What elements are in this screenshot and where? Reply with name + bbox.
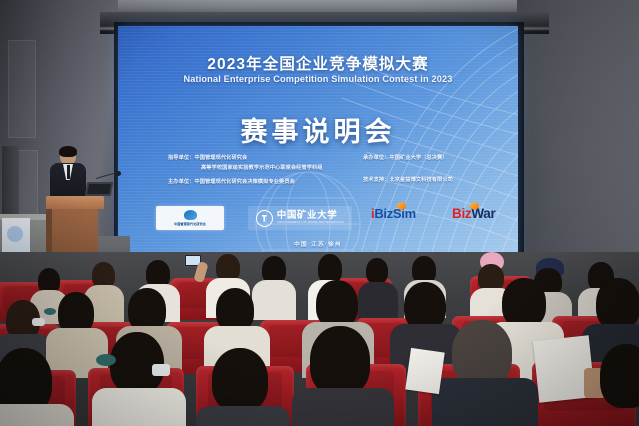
- ibizsim-logo: iBizSim: [371, 207, 416, 220]
- bizwar-part1: Biz: [452, 206, 471, 221]
- slide-title-cn: 2023年全国企业竞争模拟大赛: [118, 52, 518, 74]
- wall-right: [517, 0, 639, 272]
- cam-logo-mark-icon: [184, 210, 197, 220]
- credit-line: 主办单位：中国管理现代化研究会决策模拟专业委员会: [168, 178, 323, 188]
- cam-logo: 中国管理现代化研究会: [156, 206, 224, 230]
- audience-head: [502, 278, 546, 328]
- presenter-hair: [59, 146, 77, 157]
- audience-torso: [196, 406, 290, 426]
- audience-head: [212, 348, 268, 412]
- ibizsim-part2: Biz: [374, 206, 393, 221]
- audience-mask: [32, 318, 45, 326]
- slide-title-en: National Enterprise Competition Simulati…: [118, 74, 518, 84]
- credits-left: 指导单位：中国管理现代化研究会 高等学校国家级实验教学示范中心联席会经管学科组 …: [168, 154, 323, 188]
- conference-hall-photo: 2023年全国企业竞争模拟大赛 National Enterprise Comp…: [0, 0, 639, 426]
- cumt-logo-en: CHINA UNIVERSITY OF MINING AND TECHNOLOG…: [277, 222, 345, 225]
- cumt-logo: 中国矿业大学 CHINA UNIVERSITY OF MINING AND TE…: [248, 206, 352, 230]
- audience-head: [600, 344, 639, 408]
- audience-hair-tie: [96, 354, 116, 366]
- audience-torso: [252, 280, 296, 320]
- audience-head: [452, 320, 512, 386]
- wall-panel: [8, 40, 36, 138]
- slide-main-heading: 赛事说明会: [118, 110, 518, 149]
- credit-line: 指导单位：中国管理现代化研究会: [168, 154, 323, 164]
- audience-head: [404, 282, 446, 330]
- audience-hair-tie: [44, 308, 56, 315]
- credit-line: 承办单位：中国矿业大学（总决赛）: [363, 154, 453, 164]
- standing-poster: [2, 218, 30, 252]
- seated-audience: [0, 252, 639, 426]
- audience-torso: [92, 388, 186, 426]
- audience-head: [366, 258, 388, 284]
- audience-torso: [358, 282, 398, 318]
- handout-paper: [405, 348, 445, 394]
- audience-torso: [292, 388, 394, 426]
- audience-head: [596, 278, 639, 330]
- presentation-screen: 2023年全国企业竞争模拟大赛 National Enterprise Comp…: [118, 26, 518, 264]
- bizwar-logo: BizWar: [452, 207, 495, 221]
- audience-head: [310, 326, 370, 396]
- credit-line: 高等学校国家级实验教学示范中心联席会经管学科组: [168, 164, 323, 174]
- audience-torso: [0, 404, 74, 426]
- credits-right: 承办单位：中国矿业大学（总决赛） 技术支持：北京金益博文科技有限公司: [363, 154, 453, 186]
- audience-torso: [432, 378, 538, 426]
- podium-microphone: [96, 168, 120, 198]
- cam-logo-cn: 中国管理现代化研究会: [174, 221, 206, 226]
- credit-line: 技术支持：北京金益博文科技有限公司: [363, 176, 453, 186]
- audience-mask: [152, 364, 170, 376]
- sponsor-logo-row: 中国管理现代化研究会 中国矿业大学 CHINA UNIVERSITY OF MI…: [118, 204, 518, 234]
- cumt-seal-icon: [256, 210, 273, 227]
- cumt-logo-cn: 中国矿业大学: [277, 211, 345, 221]
- presenter-tie: [67, 165, 70, 179]
- audience-head: [110, 332, 164, 394]
- slide-place: 中国·江苏·徐州: [118, 240, 518, 248]
- audience-head: [316, 280, 358, 328]
